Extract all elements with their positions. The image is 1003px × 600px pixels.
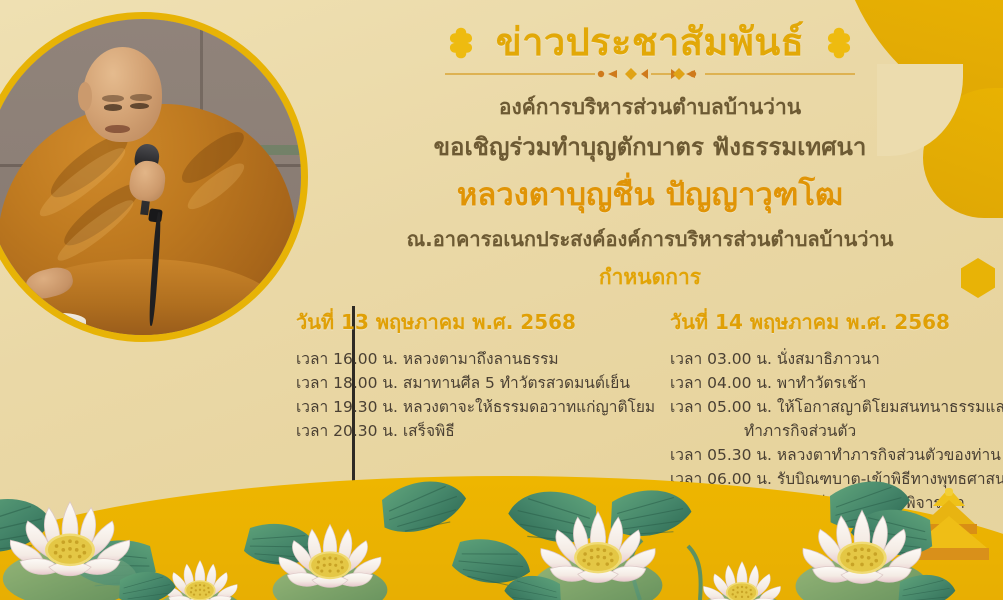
- monk-mouth: [105, 125, 130, 133]
- monk-name: หลวงตาบุญชื่น ปัญญาวุฑโฒ: [300, 176, 1000, 215]
- four-petal-flower-icon: [444, 26, 478, 60]
- schedule-entry: เวลา 04.00 น. พาทำวัตรเช้า: [670, 371, 986, 395]
- invitation-line: ขอเชิญร่วมทำบุญตักบาตร ฟังธรรมเทศนา: [300, 131, 1000, 163]
- entry-main: เวลา 18.00 น. สมาทานศีล 5 ทำวัตรสวดมนต์เ…: [296, 374, 630, 392]
- monk-photo: [0, 12, 308, 342]
- entry-main: เวลา 04.00 น. พาทำวัตรเช้า: [670, 374, 866, 392]
- schedule-day1-header: วันที่ 13 พฤษภาคม พ.ศ. 2568: [296, 306, 632, 338]
- lotus-flower-icon: [699, 561, 786, 600]
- ornament-divider-icon: [445, 66, 855, 82]
- entry-main: เวลา 03.00 น. นั่งสมาธิภาวนา: [670, 350, 880, 368]
- entry-main: เวลา 05.00 น. ให้โอกาสญาติโยมสนทนาธรรมแล…: [670, 398, 1003, 416]
- lotus-decoration: [0, 450, 1003, 600]
- agenda-label: กำหนดการ: [300, 261, 1000, 294]
- page-title: ข่าวประชาสัมพันธ์: [496, 22, 804, 63]
- monk-photo-inner: [0, 19, 301, 335]
- entry-continuation: ทำภารกิจส่วนตัว: [670, 419, 986, 443]
- schedule-entry: เวลา 20.30 น. เสร็จพิธี: [296, 419, 632, 443]
- monk-ear: [78, 82, 92, 110]
- entry-main: เวลา 20.30 น. เสร็จพิธี: [296, 422, 455, 440]
- schedule-entry: เวลา 19.30 น. หลวงตาจะให้ธรรมดอวาทแก่ญาต…: [296, 395, 632, 419]
- title-row: ข่าวประชาสัมพันธ์: [300, 22, 1000, 63]
- venue-line: ณ.อาคารอเนกประสงค์องค์การบริหารส่วนตำบลบ…: [300, 226, 1000, 253]
- schedule-entry: เวลา 05.00 น. ให้โอกาสญาติโยมสนทนาธรรมแล…: [670, 395, 986, 443]
- poster-canvas: ข่าวประชาสัมพันธ์ องค์การบริหารส่วนตำบลบ…: [0, 0, 1003, 600]
- schedule-entry: เวลา 03.00 น. นั่งสมาธิภาวนา: [670, 347, 986, 371]
- monk-eye-left: [104, 104, 123, 110]
- white-cloth: [17, 313, 87, 335]
- organization-line: องค์การบริหารส่วนตำบลบ้านว่าน: [300, 93, 1000, 121]
- header-block: ข่าวประชาสัมพันธ์ องค์การบริหารส่วนตำบลบ…: [300, 22, 1000, 294]
- schedule-entry: เวลา 18.00 น. สมาทานศีล 5 ทำวัตรสวดมนต์เ…: [296, 371, 632, 395]
- entry-main: เวลา 16.00 น. หลวงตามาถึงลานธรรม: [296, 350, 559, 368]
- lotus-stem: [688, 546, 701, 600]
- schedule-entry: เวลา 16.00 น. หลวงตามาถึงลานธรรม: [296, 347, 632, 371]
- entry-main: เวลา 19.30 น. หลวงตาจะให้ธรรมดอวาทแก่ญาต…: [296, 398, 655, 416]
- lotus-leaf-icon: [376, 472, 471, 539]
- four-petal-flower-icon: [822, 26, 856, 60]
- schedule-day2-header: วันที่ 14 พฤษภาคม พ.ศ. 2568: [670, 306, 986, 338]
